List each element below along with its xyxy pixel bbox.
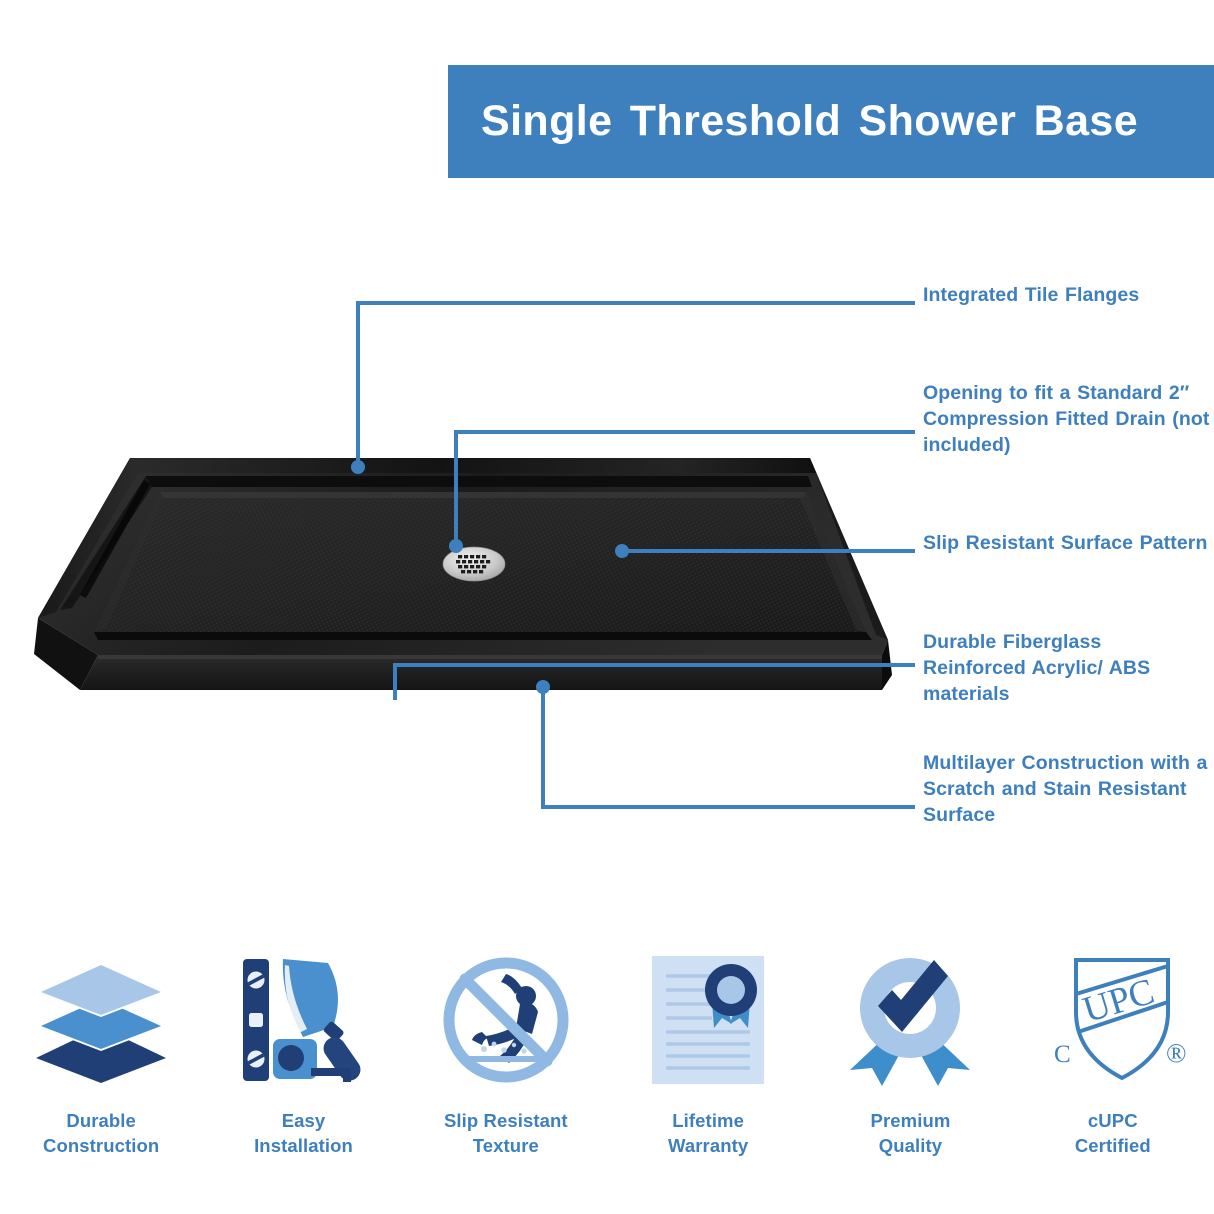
product-image-shower-base: [20, 440, 910, 710]
title-banner: Single Threshold Shower Base: [448, 65, 1214, 178]
layers-icon: [31, 945, 171, 1095]
feature-label: Easy Installation: [254, 1109, 353, 1159]
feature-strip: Durable Construction: [0, 945, 1214, 1195]
upc-mark-text: UPC: [1078, 971, 1159, 1031]
feature-easy-installation: Easy Installation: [202, 945, 404, 1159]
infographic-page: Single Threshold Shower Base: [0, 0, 1214, 1214]
page-title: Single Threshold Shower Base: [448, 100, 1138, 143]
feature-label: Durable Construction: [43, 1109, 159, 1159]
feature-slip-resistant-texture: Slip Resistant Texture: [405, 945, 607, 1159]
certificate-icon: [646, 945, 770, 1095]
registered-icon: ®: [1166, 1038, 1187, 1068]
feature-label: cUPC Certified: [1075, 1109, 1151, 1159]
callout-integrated-tile-flanges: Integrated Tile Flanges: [923, 283, 1208, 309]
upc-prefix-text: C: [1054, 1041, 1071, 1068]
upc-shield-icon: UPC C ®: [1038, 945, 1188, 1095]
feature-cupc-certified: UPC C ® cUPC Certified: [1012, 945, 1214, 1159]
feature-lifetime-warranty: Lifetime Warranty: [607, 945, 809, 1159]
feature-premium-quality: Premium Quality: [809, 945, 1011, 1159]
callout-multilayer-construction: Multilayer Construction with a Scratch a…: [923, 751, 1208, 829]
callout-slip-resistant-surface: Slip Resistant Surface Pattern: [923, 531, 1208, 557]
feature-label: Slip Resistant Texture: [444, 1109, 568, 1159]
feature-label: Lifetime Warranty: [668, 1109, 748, 1159]
feature-label: Premium Quality: [871, 1109, 951, 1159]
no-slip-icon: [438, 945, 574, 1095]
tools-icon: [233, 945, 373, 1095]
check-rosette-icon: [842, 945, 978, 1095]
callout-drain-opening: Opening to fit a Standard 2″ Compression…: [923, 381, 1213, 459]
callout-durable-materials: Durable Fiberglass Reinforced Acrylic/ A…: [923, 630, 1208, 708]
feature-durable-construction: Durable Construction: [0, 945, 202, 1159]
